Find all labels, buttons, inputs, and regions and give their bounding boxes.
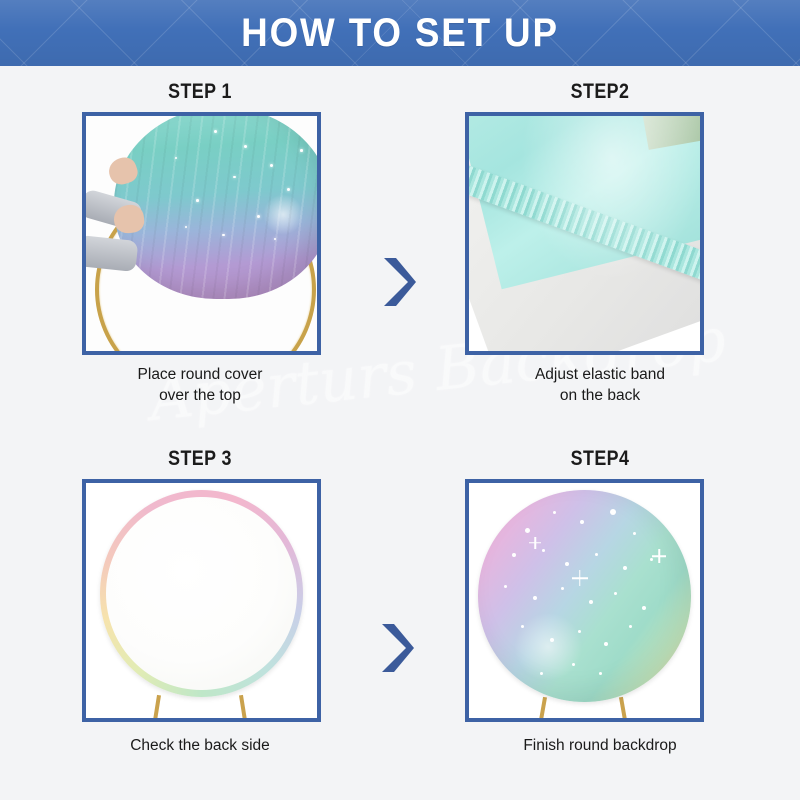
- step-title-4: STEP4: [430, 447, 770, 471]
- step-title-3: STEP 3: [30, 447, 370, 471]
- sparkle-icon: [652, 549, 666, 563]
- step-title-1: STEP 1: [30, 80, 370, 104]
- step-illustration-3: [86, 483, 317, 718]
- step-image-frame-1: [82, 112, 321, 355]
- cover-back-side: [100, 490, 303, 697]
- step-title-2: STEP2: [430, 80, 770, 104]
- sparkle-icon: [529, 537, 541, 549]
- step-image-frame-3: [82, 479, 321, 722]
- step-image-frame-2: [465, 112, 704, 355]
- finished-backdrop: [478, 490, 691, 702]
- step-caption-4: Finish round backdrop: [400, 735, 800, 756]
- step-image-frame-4: [465, 479, 704, 722]
- step-card-3: STEP 3 Check the back side: [0, 433, 400, 800]
- step-card-1: STEP 1: [0, 66, 400, 433]
- caption-line-1: Place round cover: [0, 364, 400, 385]
- step-illustration-1: [86, 116, 317, 351]
- caption-line-2: on the back: [400, 385, 800, 406]
- step-card-4: STEP4: [400, 433, 800, 800]
- step-caption-1: Place round cover over the top: [0, 364, 400, 406]
- step-caption-2: Adjust elastic band on the back: [400, 364, 800, 406]
- step-card-2: STEP2 Adjust elastic band on the back: [400, 66, 800, 433]
- caption-line-1: Check the back side: [0, 735, 400, 756]
- header-banner: HOW TO SET UP: [0, 0, 800, 66]
- step-illustration-4: [469, 483, 700, 718]
- sparkle-icon: [572, 570, 588, 586]
- caption-line-1: Finish round backdrop: [400, 735, 800, 756]
- step-illustration-2: [469, 116, 700, 351]
- chevron-right-icon: [378, 254, 418, 310]
- chevron-right-icon: [376, 620, 416, 676]
- caption-line-1: Adjust elastic band: [400, 364, 800, 385]
- gradient-cover-cloth: [114, 116, 317, 299]
- page-title: HOW TO SET UP: [32, 0, 768, 66]
- steps-grid: STEP 1: [0, 66, 800, 800]
- caption-line-2: over the top: [0, 385, 400, 406]
- step-caption-3: Check the back side: [0, 735, 400, 756]
- person-arm: [86, 235, 138, 272]
